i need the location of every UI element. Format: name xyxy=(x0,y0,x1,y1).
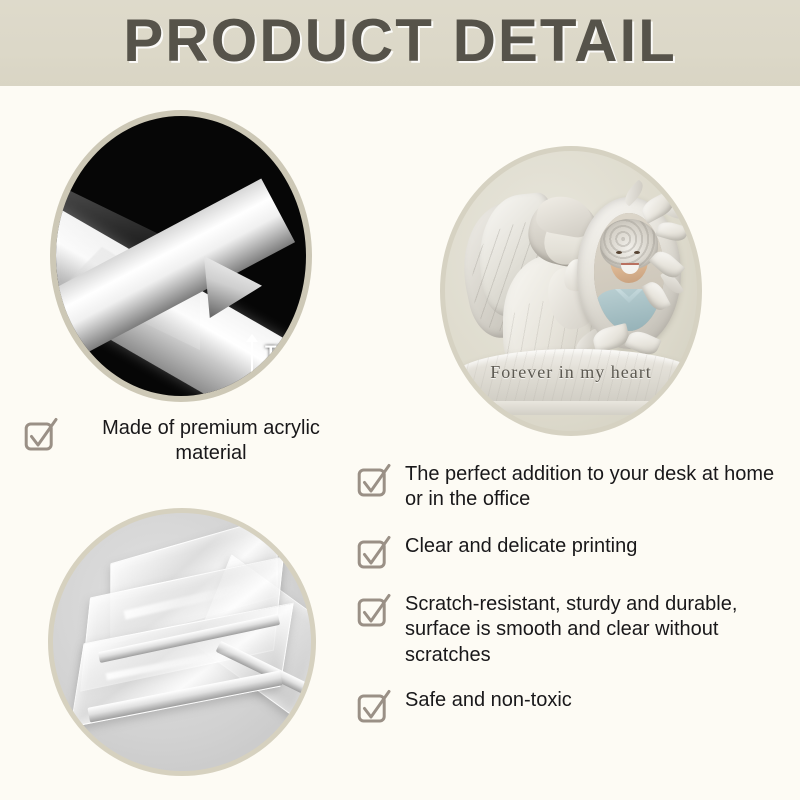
feature-item: Clear and delicate printing xyxy=(357,534,777,569)
checkmark-box-icon xyxy=(357,689,391,723)
marble-base-lip xyxy=(463,401,689,415)
checkmark-box-icon xyxy=(24,417,58,451)
double-arrow-icon xyxy=(246,334,258,396)
feature-label: Made of premium acrylic material xyxy=(72,416,350,467)
portrait-eye-left xyxy=(616,251,622,254)
feature-item: Made of premium acrylic material xyxy=(24,416,354,467)
thickness-value: 0.55 in xyxy=(265,365,312,388)
angel-figurine-image: Forever in my heart xyxy=(440,146,702,436)
feature-item: Safe and non-toxic xyxy=(357,688,777,723)
base-engraving-text: Forever in my heart xyxy=(445,362,697,383)
feature-label: Scratch-resistant, sturdy and durable, s… xyxy=(405,592,777,668)
thickness-label: Thickness xyxy=(265,342,312,365)
checkmark-box-icon xyxy=(357,535,391,569)
portrait-eye-right xyxy=(634,251,640,254)
feature-item: Scratch-resistant, sturdy and durable, s… xyxy=(357,592,777,668)
checkmark-box-icon xyxy=(357,593,391,627)
thickness-caption: Thickness 0.55 in xyxy=(265,342,312,388)
feature-label: The perfect addition to your desk at hom… xyxy=(405,462,777,513)
feature-item: The perfect addition to your desk at hom… xyxy=(357,462,777,513)
header-banner: PRODUCT DETAIL xyxy=(0,0,800,86)
acrylic-blanks-image xyxy=(48,508,316,776)
page-title: PRODUCT DETAIL xyxy=(0,6,800,75)
thickness-measurement: Thickness 0.55 in xyxy=(246,334,312,396)
checkmark-box-icon xyxy=(357,463,391,497)
feature-label: Safe and non-toxic xyxy=(405,688,572,713)
thickness-detail-image: Thickness 0.55 in xyxy=(50,110,312,402)
memorial-portrait-photo xyxy=(594,213,664,331)
angel-sculpture: Forever in my heart xyxy=(445,151,697,431)
feature-label: Clear and delicate printing xyxy=(405,534,637,559)
